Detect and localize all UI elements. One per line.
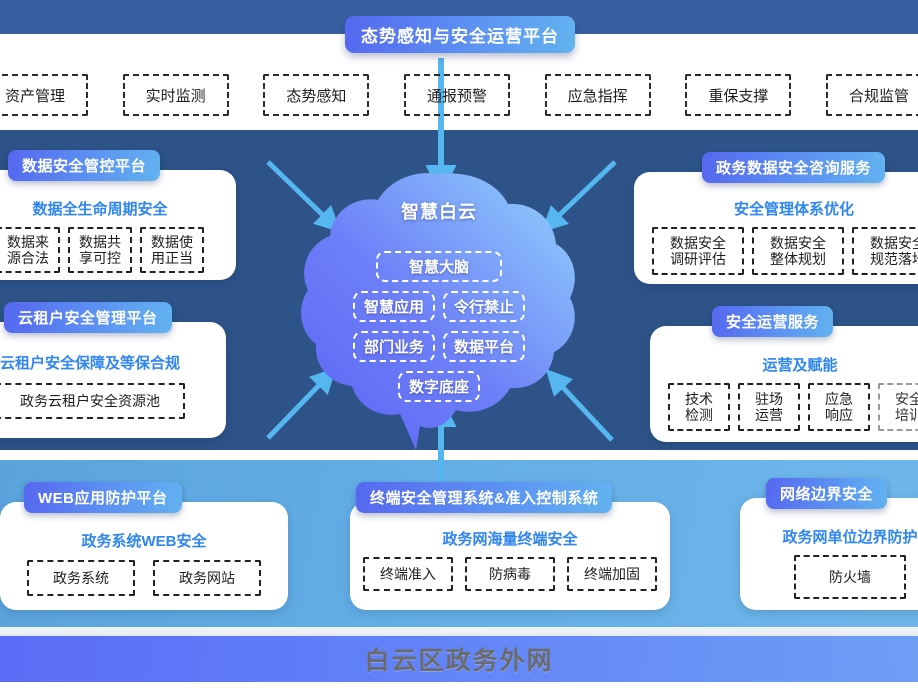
brain-chip-row-3: 部门业务数据平台 — [353, 331, 525, 362]
panel-data-security-title-label: 数据安全管控平台 — [22, 155, 146, 176]
panel-network-boundary-title-label: 网络边界安全 — [780, 483, 873, 504]
footer-banner: 白云区政务外网 — [0, 636, 918, 682]
panel-data-security-title[interactable]: 数据安全管控平台 — [8, 150, 160, 181]
capability-box[interactable]: 合规监管 — [826, 74, 918, 116]
panel-data-security-items: 数据来 源合法数据共 享可控数据使 用正当 — [0, 227, 236, 273]
brain-chip[interactable]: 部门业务 — [353, 331, 435, 362]
panel-item-chip[interactable]: 安全 培训 — [878, 383, 918, 431]
panel-consulting: 安全管理体系优化 数据安全 调研评估数据安全 整体规划数据安全 规范落地 — [634, 172, 918, 284]
panel-terminal-security-subtitle: 政务网海量终端安全 — [350, 528, 670, 549]
panel-item-chip[interactable]: 终端准入 — [363, 557, 453, 591]
panel-consulting-items: 数据安全 调研评估数据安全 整体规划数据安全 规范落地 — [634, 227, 918, 275]
panel-item-chip[interactable]: 政务网站 — [153, 560, 261, 596]
panel-terminal-security: 政务网海量终端安全 终端准入防病毒终端加固 — [350, 502, 670, 610]
panel-item-chip[interactable]: 终端加固 — [567, 557, 657, 591]
band-divider — [0, 627, 918, 636]
panel-network-boundary-title[interactable]: 网络边界安全 — [766, 478, 887, 509]
capability-box[interactable]: 态势感知 — [263, 74, 369, 116]
diagram-root: 态势感知与安全运营平台 资产管理实时监测态势感知通报预警应急指挥重保支撑合规监管… — [0, 0, 918, 690]
brain-chip[interactable]: 令行禁止 — [443, 291, 525, 322]
panel-cloud-tenant-title-label: 云租户安全管理平台 — [18, 307, 158, 328]
panel-security-operations-subtitle: 运营及赋能 — [650, 354, 918, 375]
panel-web-protection-title[interactable]: WEB应用防护平台 — [24, 482, 182, 513]
brain-chip[interactable]: 数据平台 — [443, 331, 525, 362]
panel-cloud-tenant-subtitle: 云租户安全保障及等保合规 — [0, 352, 226, 373]
top-platform-title[interactable]: 态势感知与安全运营平台 — [345, 16, 575, 53]
panel-network-boundary: 政务网单位边界防护 防火墙 — [740, 498, 918, 610]
panel-cloud-tenant: 云租户安全保障及等保合规 政务云租户安全资源池 — [0, 322, 226, 438]
brain-chip-row-1: 智慧大脑 — [376, 233, 502, 282]
top-platform-label: 态势感知与安全运营平台 — [361, 22, 559, 47]
panel-item-chip[interactable]: 数据使 用正当 — [140, 227, 204, 273]
panel-item-chip[interactable]: 数据安全 调研评估 — [652, 227, 744, 275]
footer-title: 白云区政务外网 — [364, 641, 553, 677]
panel-security-operations-title-label: 安全运营服务 — [726, 311, 819, 332]
brain-chip-row-2: 智慧应用令行禁止 — [353, 291, 525, 322]
brain-chip[interactable]: 智慧大脑 — [376, 251, 502, 282]
capability-row: 资产管理实时监测态势感知通报预警应急指挥重保支撑合规监管 — [0, 74, 918, 116]
brain-chip[interactable]: 智慧应用 — [353, 291, 435, 322]
panel-web-protection-title-label: WEB应用防护平台 — [38, 487, 168, 508]
panel-web-protection-subtitle: 政务系统WEB安全 — [0, 530, 288, 551]
capability-box[interactable]: 资产管理 — [0, 74, 88, 116]
panel-terminal-security-title-label: 终端安全管理系统&准入控制系统 — [370, 487, 598, 508]
panel-item-chip[interactable]: 政务系统 — [27, 560, 135, 596]
panel-consulting-subtitle: 安全管理体系优化 — [634, 198, 918, 219]
panel-cloud-tenant-items: 政务云租户安全资源池 — [0, 383, 226, 419]
panel-network-boundary-subtitle: 政务网单位边界防护 — [740, 526, 918, 547]
panel-security-operations-title[interactable]: 安全运营服务 — [712, 306, 833, 337]
central-brain: 智慧白云 智慧大脑 智慧应用令行禁止 部门业务数据平台 数字底座 — [296, 168, 582, 450]
panel-item-chip[interactable]: 防病毒 — [465, 557, 555, 591]
panel-item-chip[interactable]: 数据来 源合法 — [0, 227, 60, 273]
panel-item-chip[interactable]: 数据共 享可控 — [68, 227, 132, 273]
panel-consulting-title[interactable]: 政务数据安全咨询服务 — [702, 152, 885, 183]
capability-box[interactable]: 通报预警 — [404, 74, 510, 116]
panel-item-chip[interactable]: 技术 检测 — [668, 383, 730, 431]
panel-terminal-security-items: 终端准入防病毒终端加固 — [350, 557, 670, 591]
capability-box[interactable]: 实时监测 — [123, 74, 229, 116]
brain-title: 智慧白云 — [401, 198, 477, 224]
panel-security-operations: 运营及赋能 技术 检测驻场 运营应急 响应安全 培训 — [650, 326, 918, 442]
panel-data-security-subtitle: 数据全生命周期安全 — [0, 198, 236, 219]
panel-item-chip[interactable]: 数据安全 规范落地 — [852, 227, 918, 275]
brain-chip[interactable]: 数字底座 — [398, 371, 480, 402]
capability-box[interactable]: 重保支撑 — [685, 74, 791, 116]
panel-item-chip[interactable]: 数据安全 整体规划 — [752, 227, 844, 275]
panel-cloud-tenant-title[interactable]: 云租户安全管理平台 — [4, 302, 172, 333]
panel-terminal-security-title[interactable]: 终端安全管理系统&准入控制系统 — [356, 482, 612, 513]
panel-web-protection: 政务系统WEB安全 政务系统政务网站 — [0, 502, 288, 610]
panel-consulting-title-label: 政务数据安全咨询服务 — [716, 157, 871, 178]
panel-security-operations-items: 技术 检测驻场 运营应急 响应安全 培训 — [650, 383, 918, 431]
panel-item-chip[interactable]: 应急 响应 — [808, 383, 870, 431]
panel-item-chip[interactable]: 政务云租户安全资源池 — [0, 383, 185, 419]
panel-item-chip[interactable]: 防火墙 — [794, 555, 906, 599]
capability-box[interactable]: 应急指挥 — [545, 74, 651, 116]
panel-data-security: 数据全生命周期安全 数据来 源合法数据共 享可控数据使 用正当 — [0, 170, 236, 280]
panel-web-protection-items: 政务系统政务网站 — [0, 560, 288, 596]
panel-item-chip[interactable]: 驻场 运营 — [738, 383, 800, 431]
footer-edge — [0, 682, 918, 690]
brain-chip-row-4: 数字底座 — [398, 371, 480, 402]
panel-network-boundary-items: 防火墙 — [740, 555, 918, 599]
